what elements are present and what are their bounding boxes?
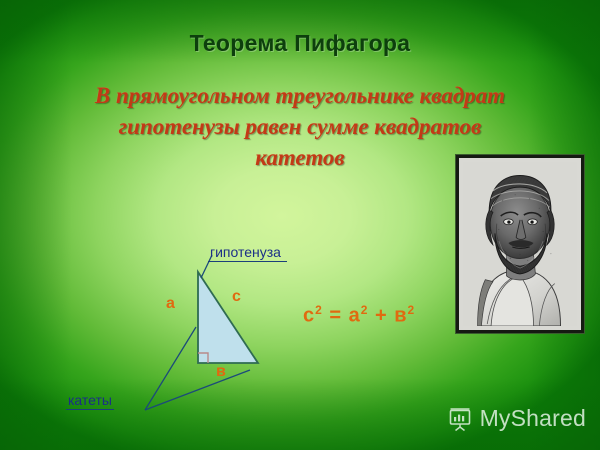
label-legs: катеты <box>66 392 114 410</box>
formula-plus: + <box>375 305 388 327</box>
leader-line-leg-a <box>145 327 196 410</box>
formula-a-exponent: 2 <box>361 303 369 317</box>
right-triangle-diagram <box>60 235 460 425</box>
diagram-svg <box>60 235 460 425</box>
subtitle-line-1: В прямоугольном треугольнике квадрат <box>40 80 560 111</box>
formula-v-exponent: 2 <box>408 303 416 317</box>
triangle-shape <box>198 272 258 363</box>
leader-line-leg-v <box>145 370 250 410</box>
watermark-label: MyShared <box>480 405 586 432</box>
pythagoras-portrait-image <box>463 162 577 326</box>
formula-a: а <box>349 305 361 327</box>
pythagorean-formula: с2 = а2 + в2 <box>303 303 415 328</box>
formula-equals: = <box>329 305 342 327</box>
formula-v: в <box>394 305 407 327</box>
label-side-a: а <box>166 295 175 313</box>
label-hypotenuse: гипотенуза <box>208 244 287 262</box>
page-title: Теорема Пифагора <box>0 30 600 57</box>
slide-canvas: Теорема Пифагора В прямоугольном треугол… <box>0 0 600 450</box>
presentation-board-icon <box>447 406 473 432</box>
label-side-c: с <box>232 288 241 306</box>
formula-c: с <box>303 305 315 327</box>
myshared-watermark: MyShared <box>447 405 586 432</box>
portrait-engraving-svg <box>463 162 577 326</box>
formula-c-exponent: 2 <box>315 303 323 317</box>
pythagoras-portrait-frame <box>456 155 584 333</box>
subtitle-line-2: гипотенузы равен сумме квадратов <box>40 111 560 142</box>
label-side-v: в <box>216 363 226 381</box>
